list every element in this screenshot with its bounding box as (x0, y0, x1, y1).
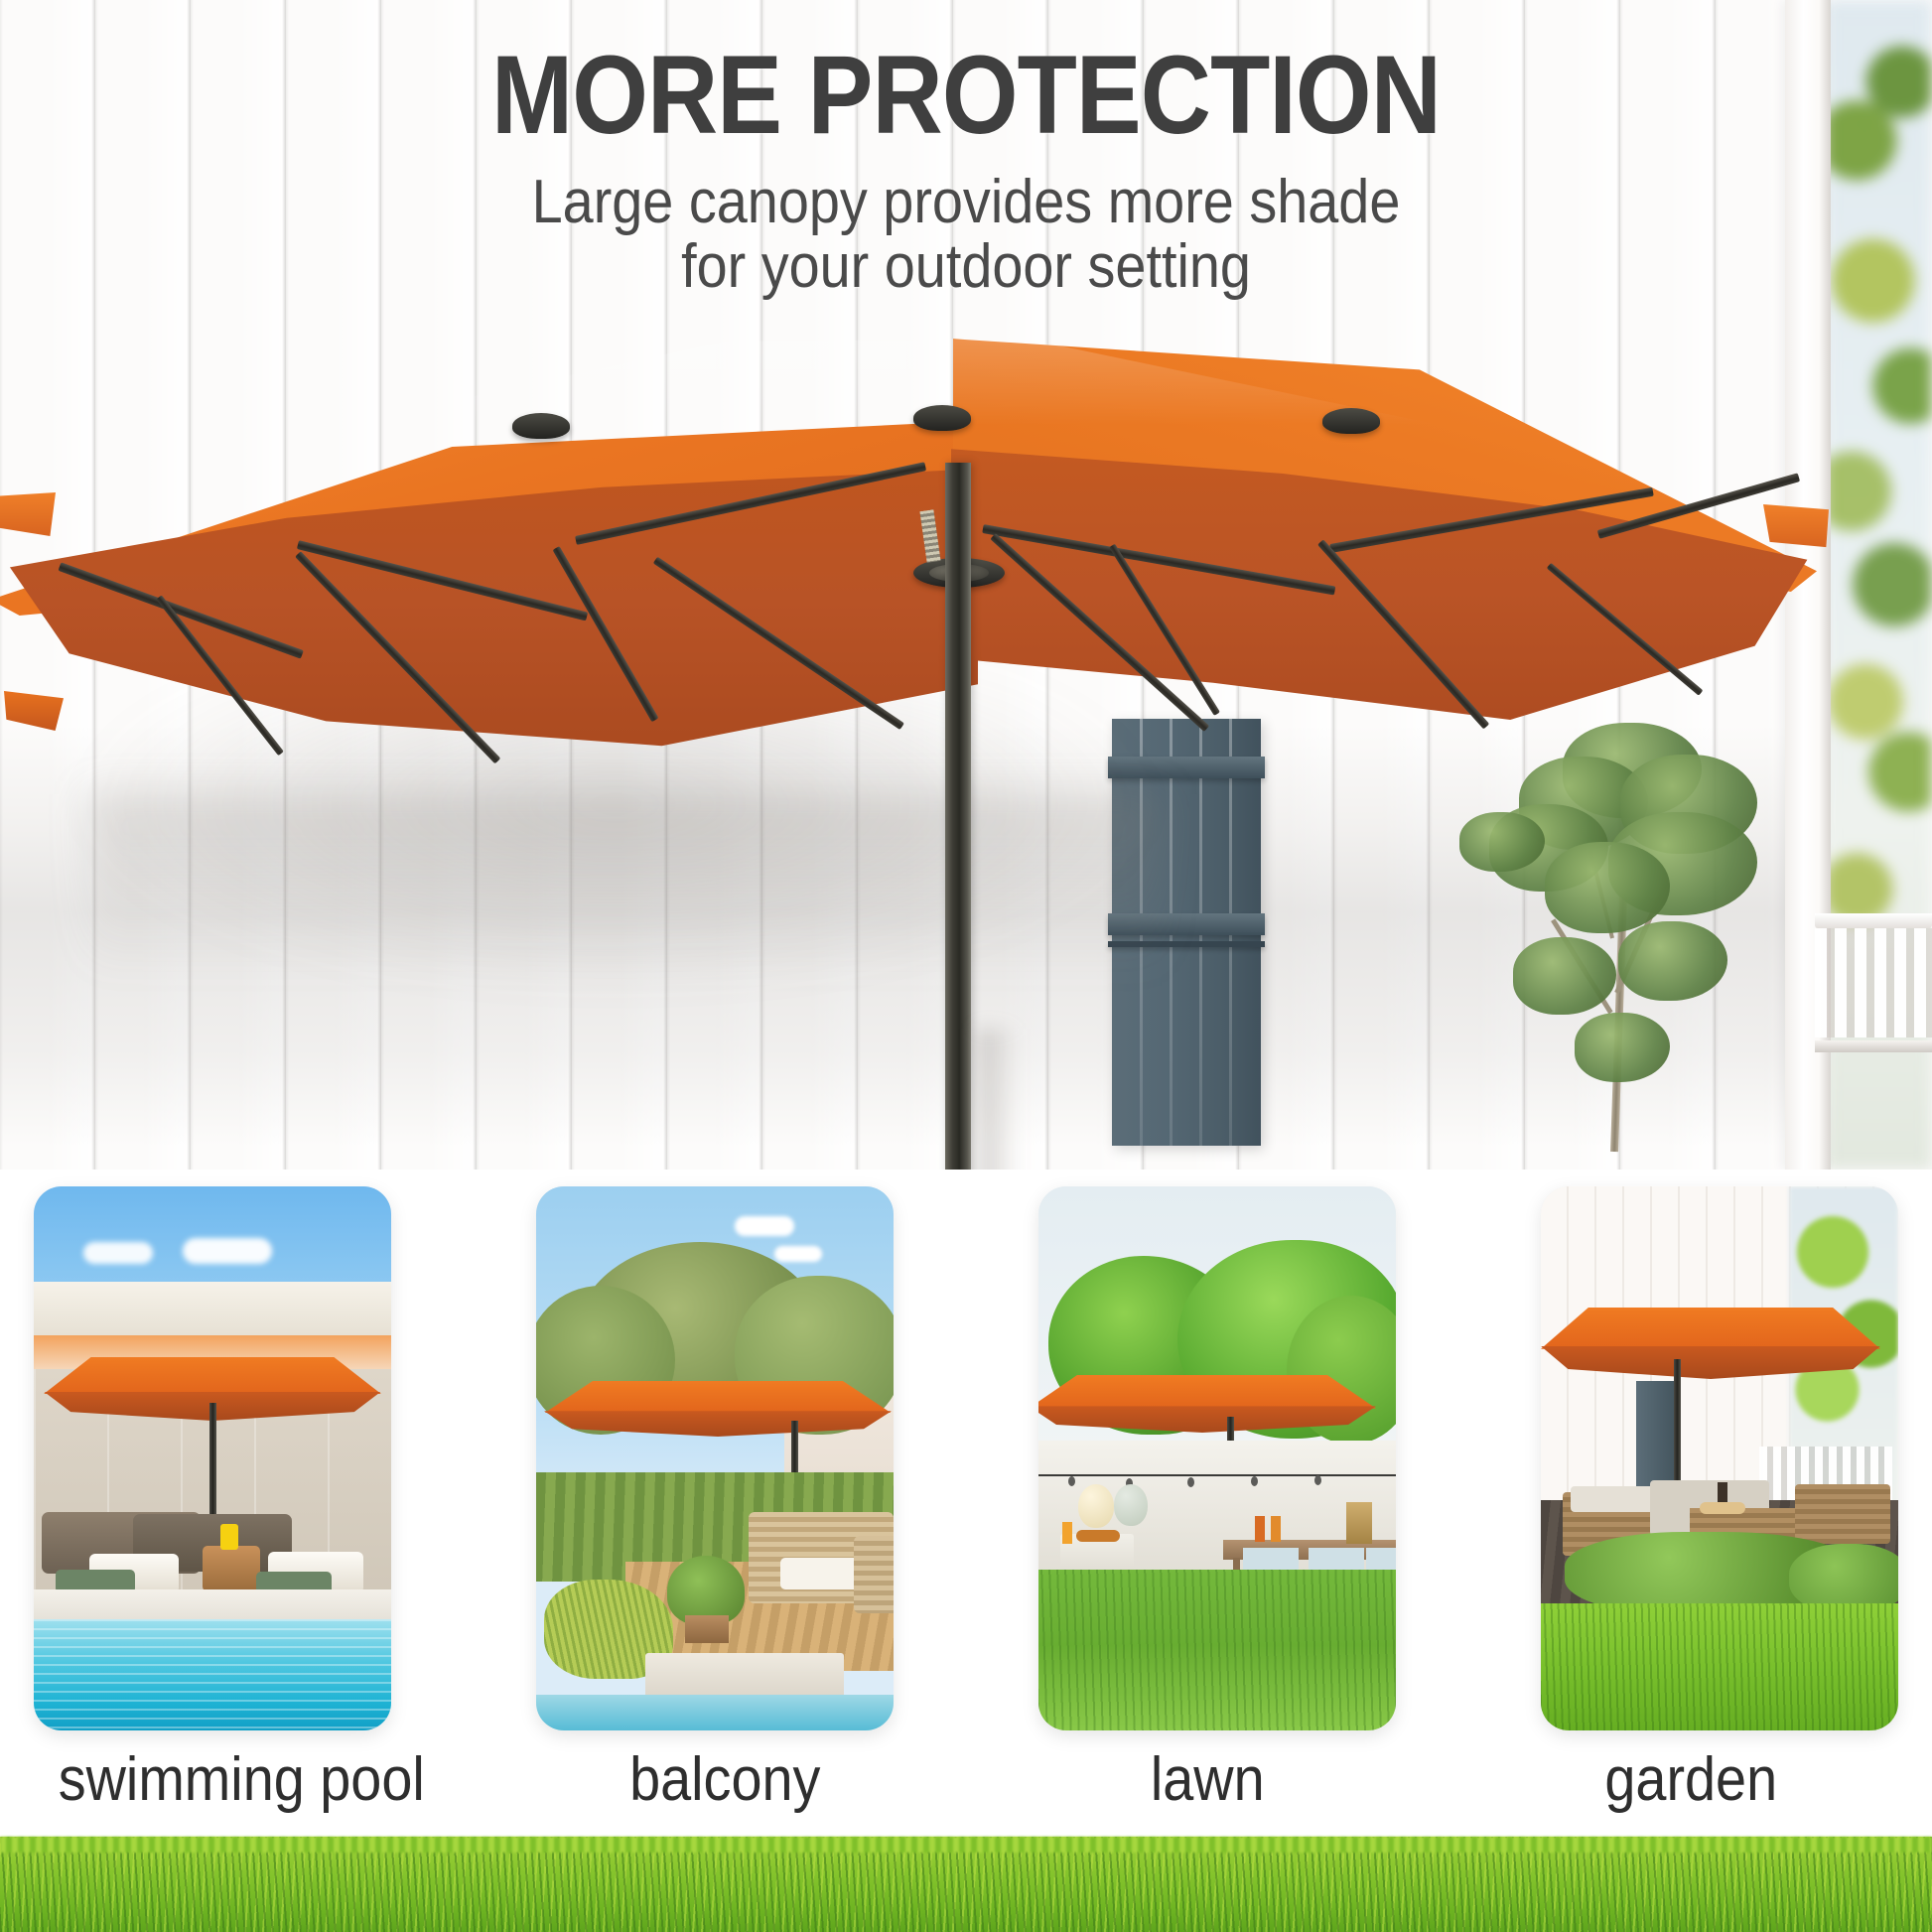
canopy-tip-left-outer (0, 492, 56, 536)
caption-lawn: lawn (990, 1735, 1425, 1825)
finial-right (1322, 408, 1380, 434)
mini-canopy-top (544, 1381, 892, 1413)
juice-bottle (1062, 1522, 1072, 1544)
bottle (1255, 1516, 1265, 1542)
hero-subtitle-line-1: Large canopy provides more shade (96, 168, 1835, 236)
card-garden[interactable] (1541, 1186, 1898, 1730)
fruit-bowl (1076, 1530, 1120, 1542)
outdoor-sofa (1795, 1484, 1890, 1544)
finial-center (913, 405, 971, 431)
canopy-tip-left-lower (4, 691, 64, 731)
card-lawn[interactable] (1038, 1186, 1396, 1730)
string-light-bulb (1314, 1475, 1321, 1485)
card-swimming-pool[interactable] (34, 1186, 391, 1730)
hero-subtitle-line-2: for your outdoor setting (96, 232, 1835, 301)
planter-pot (685, 1615, 729, 1643)
pole-cast-shadow (978, 1029, 1018, 1170)
canopy-tip-right-outer (1763, 504, 1829, 548)
canopy-left-underside (0, 463, 978, 770)
page-title: MORE PROTECTION (116, 36, 1816, 156)
wicker-chair (854, 1536, 894, 1613)
mini-canopy-underside (1541, 1346, 1880, 1379)
patio-umbrella (0, 314, 1787, 929)
balloon (1114, 1484, 1148, 1526)
pool-edge-water (536, 1695, 894, 1730)
side-table (203, 1546, 260, 1591)
caption-garden: garden (1473, 1735, 1908, 1825)
grass-blade-tips (0, 1837, 1932, 1853)
string-light-bulb (1251, 1476, 1258, 1486)
card-captions: swimming pool balcony lawn garden (0, 1735, 1932, 1825)
bread-platter (1700, 1502, 1745, 1514)
bottle (1271, 1516, 1281, 1542)
umbrella-pole (945, 463, 971, 1170)
cloud (183, 1238, 272, 1264)
railing-top-rail (1815, 913, 1932, 928)
mini-umbrella (544, 1381, 892, 1437)
lawn-grass (1038, 1570, 1396, 1730)
hero-text-block: MORE PROTECTION Large canopy provides mo… (0, 36, 1932, 302)
mini-canopy-top (44, 1357, 381, 1394)
mini-umbrella (1038, 1375, 1376, 1433)
string-light-bulb (1187, 1477, 1194, 1487)
hero-banner: MORE PROTECTION Large canopy provides mo… (0, 0, 1932, 1170)
drink-glass (220, 1524, 238, 1550)
railing-bottom-rail (1815, 1040, 1932, 1052)
card-balcony[interactable] (536, 1186, 894, 1730)
mini-pole (209, 1403, 216, 1522)
lawn-grass (1541, 1603, 1898, 1730)
balcony-railing (1815, 913, 1932, 1052)
grass-footer-strip (0, 1837, 1932, 1932)
cloud (83, 1242, 153, 1264)
mini-umbrella (1541, 1308, 1880, 1379)
building-roof (34, 1282, 391, 1341)
mini-canopy-underside (544, 1411, 892, 1437)
string-light-wire (1038, 1474, 1396, 1476)
cloud (774, 1246, 822, 1262)
string-light-bulb (1068, 1476, 1075, 1486)
mini-shutter (1636, 1381, 1674, 1490)
mini-canopy-top (1038, 1375, 1376, 1409)
usage-scenario-cards (0, 1186, 1932, 1742)
balloon (1078, 1484, 1114, 1528)
mini-canopy-top (1541, 1308, 1880, 1349)
vase-with-branches (1346, 1502, 1372, 1544)
caption-swimming-pool: swimming pool (24, 1735, 459, 1825)
cloud (735, 1216, 794, 1236)
finial-left (512, 413, 570, 439)
railing-balusters (1815, 928, 1932, 1037)
caption-balcony: balcony (507, 1735, 942, 1825)
swimming-pool-water (34, 1619, 391, 1730)
mini-umbrella (44, 1357, 381, 1421)
mini-canopy-underside (1038, 1406, 1376, 1433)
canopy-right-underside (951, 443, 1825, 751)
